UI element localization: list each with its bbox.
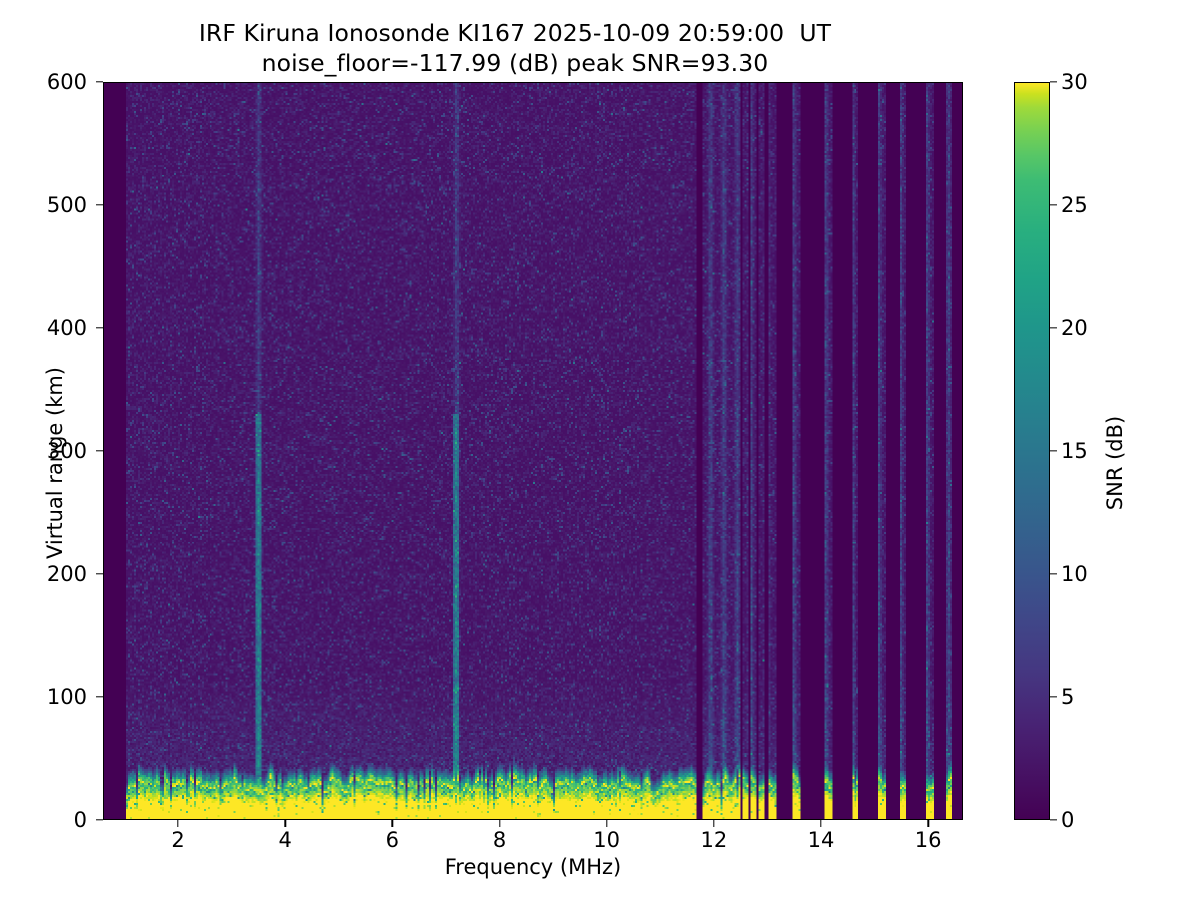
y-tick-label: 500 xyxy=(47,193,87,217)
x-tick-label: 4 xyxy=(278,828,291,852)
y-tick-mark xyxy=(96,327,103,328)
colorbar-tick-label: 25 xyxy=(1061,193,1088,217)
x-tick-mark xyxy=(392,820,393,827)
title-line-main: IRF Kiruna Ionosonde KI167 2025-10-09 20… xyxy=(0,18,1030,48)
y-tick-mark xyxy=(96,573,103,574)
title-line-stats: noise_floor=-117.99 (dB) peak SNR=93.30 xyxy=(0,48,1030,78)
colorbar-tick-label: 30 xyxy=(1061,70,1088,94)
x-tick-label: 2 xyxy=(171,828,184,852)
colorbar-label: SNR (dB) xyxy=(1103,333,1127,593)
x-tick-label: 8 xyxy=(493,828,506,852)
ionogram-heatmap xyxy=(104,83,962,819)
y-tick-label: 100 xyxy=(47,685,87,709)
colorbar-tick-mark xyxy=(1050,327,1057,328)
x-tick-mark xyxy=(177,820,178,827)
y-tick-label: 0 xyxy=(74,808,87,832)
x-tick-mark xyxy=(820,820,821,827)
y-tick-mark xyxy=(96,81,103,82)
x-tick-label: 10 xyxy=(593,828,620,852)
y-tick-label: 300 xyxy=(47,439,87,463)
colorbar-tick-label: 0 xyxy=(1061,808,1074,832)
x-tick-label: 14 xyxy=(808,828,835,852)
x-tick-mark xyxy=(284,820,285,827)
y-tick-label: 600 xyxy=(47,70,87,94)
x-tick-mark xyxy=(713,820,714,827)
x-tick-mark xyxy=(606,820,607,827)
y-tick-mark xyxy=(96,450,103,451)
chart-title: IRF Kiruna Ionosonde KI167 2025-10-09 20… xyxy=(0,18,1030,78)
x-tick-label: 16 xyxy=(915,828,942,852)
x-axis-label: Frequency (MHz) xyxy=(103,855,963,879)
colorbar-tick-mark xyxy=(1050,81,1057,82)
plot-area[interactable] xyxy=(103,82,963,820)
x-tick-mark xyxy=(499,820,500,827)
y-tick-mark xyxy=(96,819,103,820)
y-tick-mark xyxy=(96,696,103,697)
colorbar xyxy=(1014,82,1050,820)
x-tick-mark xyxy=(927,820,928,827)
colorbar-tick-mark xyxy=(1050,450,1057,451)
y-tick-mark xyxy=(96,204,103,205)
colorbar-tick-label: 20 xyxy=(1061,316,1088,340)
x-tick-label: 6 xyxy=(386,828,399,852)
colorbar-tick-mark xyxy=(1050,696,1057,697)
y-tick-label: 200 xyxy=(47,562,87,586)
colorbar-tick-label: 10 xyxy=(1061,562,1088,586)
y-axis-label: Virtual range (km) xyxy=(43,333,67,593)
x-tick-label: 12 xyxy=(700,828,727,852)
ionogram-figure: IRF Kiruna Ionosonde KI167 2025-10-09 20… xyxy=(0,0,1200,900)
colorbar-tick-label: 5 xyxy=(1061,685,1074,709)
colorbar-tick-mark xyxy=(1050,819,1057,820)
colorbar-tick-mark xyxy=(1050,204,1057,205)
colorbar-tick-mark xyxy=(1050,573,1057,574)
colorbar-tick-label: 15 xyxy=(1061,439,1088,463)
y-tick-label: 400 xyxy=(47,316,87,340)
